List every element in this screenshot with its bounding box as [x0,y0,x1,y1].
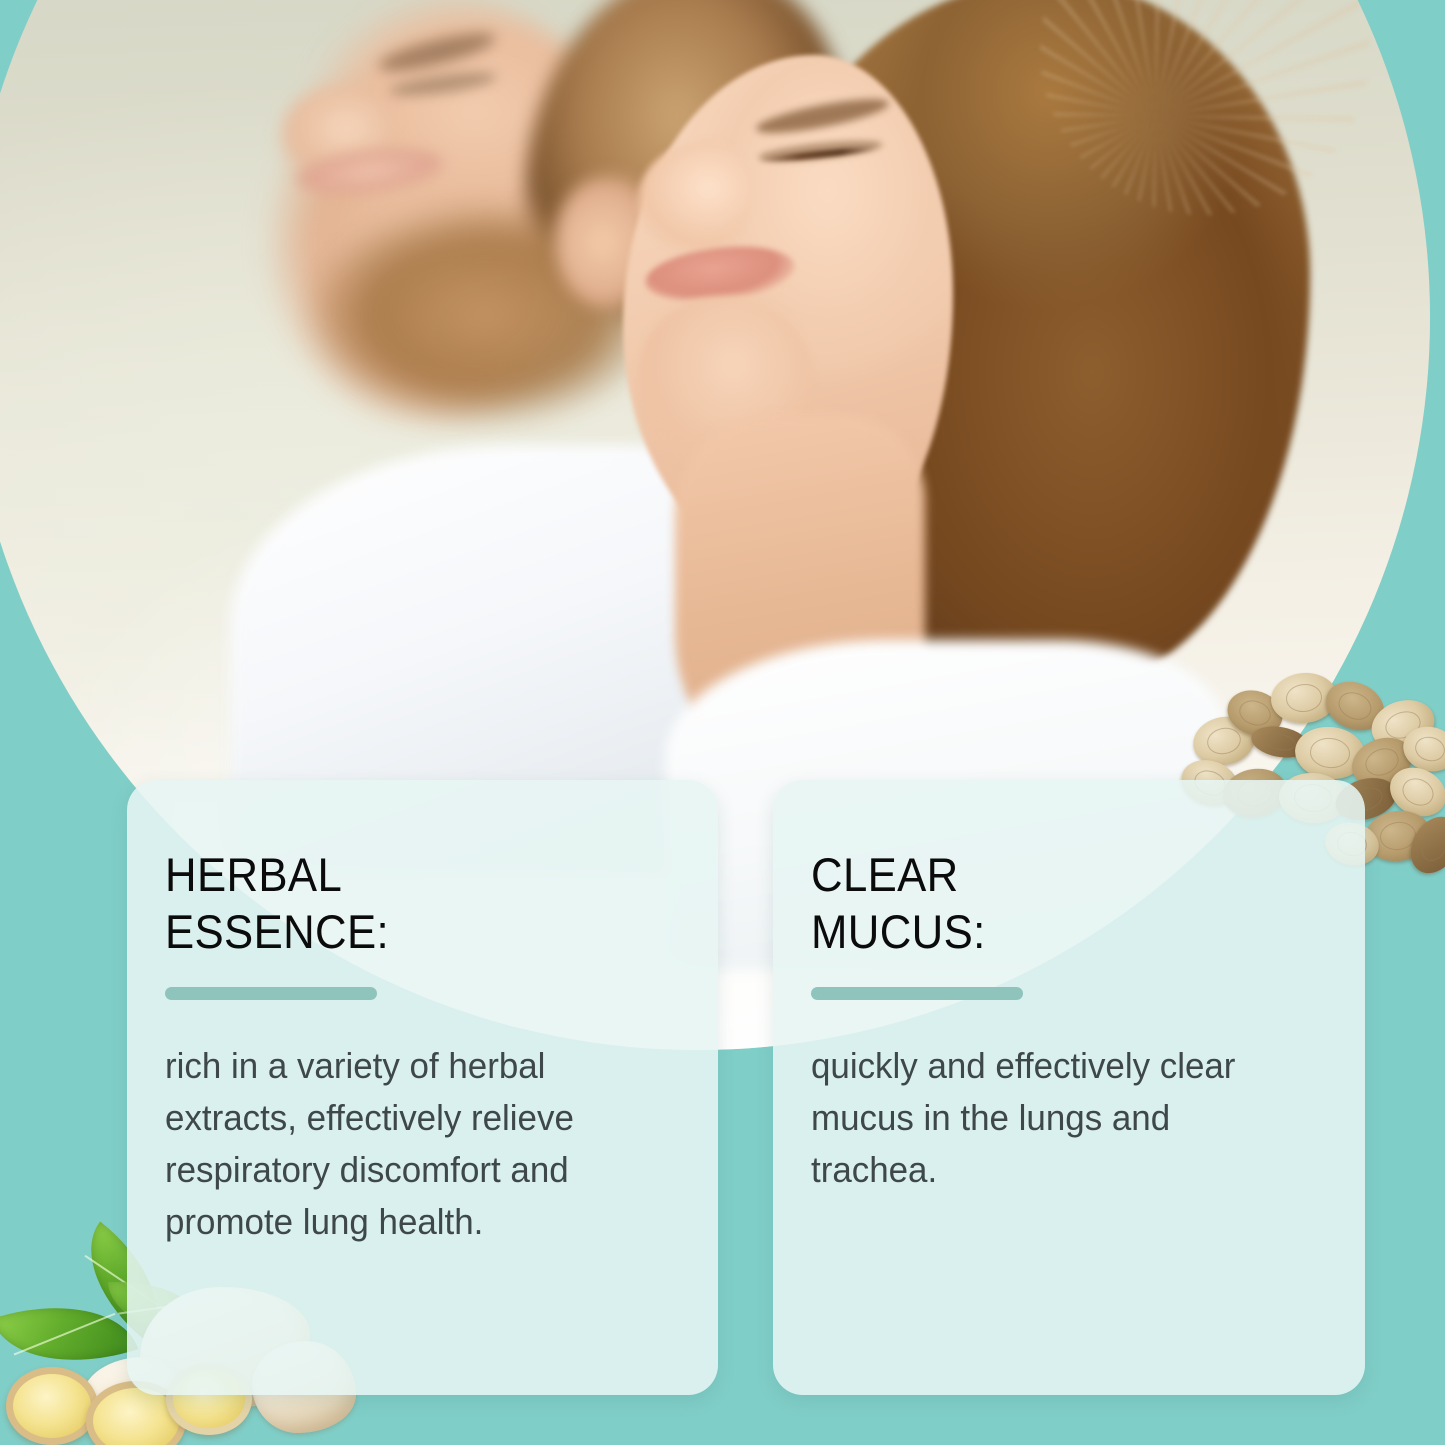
infographic-stage: HERBAL ESSENCE: rich in a variety of her… [0,0,1445,1445]
card-title: HERBAL ESSENCE: [165,846,631,961]
info-card-herbal-essence: HERBAL ESSENCE: rich in a variety of her… [127,780,718,1395]
info-card-clear-mucus: CLEAR MUCUS: quickly and effectively cle… [773,780,1365,1395]
card-title: CLEAR MUCUS: [811,846,1278,961]
card-divider [165,987,377,1000]
card-body-text: rich in a variety of herbal extracts, ef… [165,1040,651,1249]
card-divider [811,987,1023,1000]
card-body-text: quickly and effectively clear mucus in t… [811,1040,1298,1197]
